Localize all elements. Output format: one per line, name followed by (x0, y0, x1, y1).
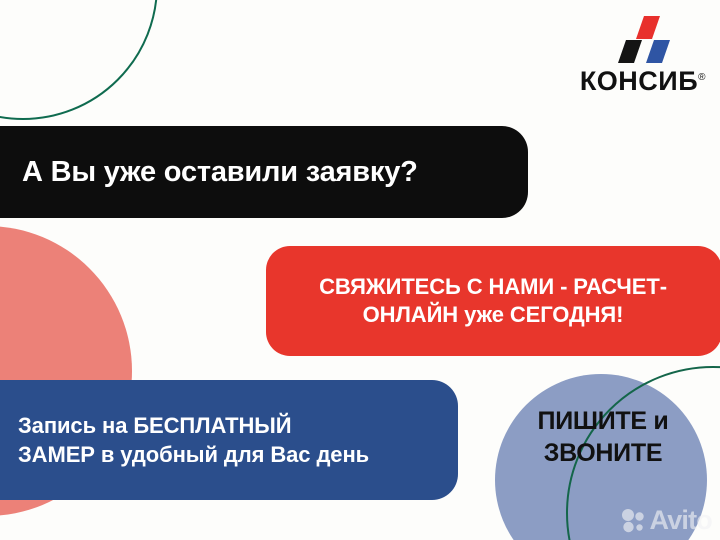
green-circle-outline-top-left (0, 0, 158, 120)
logo-wordmark: КОНСИБ® (574, 68, 706, 95)
contact-banner: СВЯЖИТЕСЬ С НАМИ - РАСЧЕТ- ОНЛАЙН уже СЕ… (266, 246, 720, 356)
red-parallelogram-icon (636, 16, 660, 39)
write-and-call-cta: ПИШИТЕ и ЗВОНИТЕ (492, 406, 714, 469)
contact-line-1: СВЯЖИТЕСЬ С НАМИ - РАСЧЕТ- (319, 274, 667, 299)
cta-line-2: ЗВОНИТЕ (544, 439, 662, 467)
blue-parallelogram-icon (646, 40, 670, 63)
contact-banner-text: СВЯЖИТЕСЬ С НАМИ - РАСЧЕТ- ОНЛАЙН уже СЕ… (319, 273, 667, 329)
avito-label: Avito (650, 507, 713, 534)
free-measurement-text: Запись на БЕСПЛАТНЫЙ ЗАМЕР в удобный для… (18, 411, 369, 470)
contact-line-2-suffix: СЕГОДНЯ! (510, 302, 623, 327)
question-banner-text: А Вы уже оставили заявку? (22, 156, 418, 188)
measure-line-1: Запись на БЕСПЛАТНЫЙ (18, 413, 291, 438)
registered-trademark-symbol: ® (698, 72, 706, 83)
contact-line-2-lower: уже (464, 302, 510, 327)
contact-line-2-prefix: ОНЛАЙН (363, 302, 464, 327)
cta-line-1-lower: и (653, 407, 668, 435)
black-parallelogram-icon (618, 40, 642, 63)
question-banner: А Вы уже оставили заявку? (0, 126, 528, 218)
free-measurement-banner: Запись на БЕСПЛАТНЫЙ ЗАМЕР в удобный для… (0, 380, 458, 500)
avito-watermark: Avito (621, 507, 713, 534)
cta-line-1-main: ПИШИТЕ (538, 407, 654, 435)
avito-dots-icon (621, 508, 647, 534)
promo-poster: КОНСИБ® А Вы уже оставили заявку? СВЯЖИТ… (0, 0, 720, 540)
measure-line-2: ЗАМЕР в удобный для Вас день (18, 442, 369, 467)
logo-mark-group (574, 16, 706, 66)
company-logo: КОНСИБ® (574, 16, 706, 95)
logo-wordmark-text: КОНСИБ (580, 66, 698, 96)
